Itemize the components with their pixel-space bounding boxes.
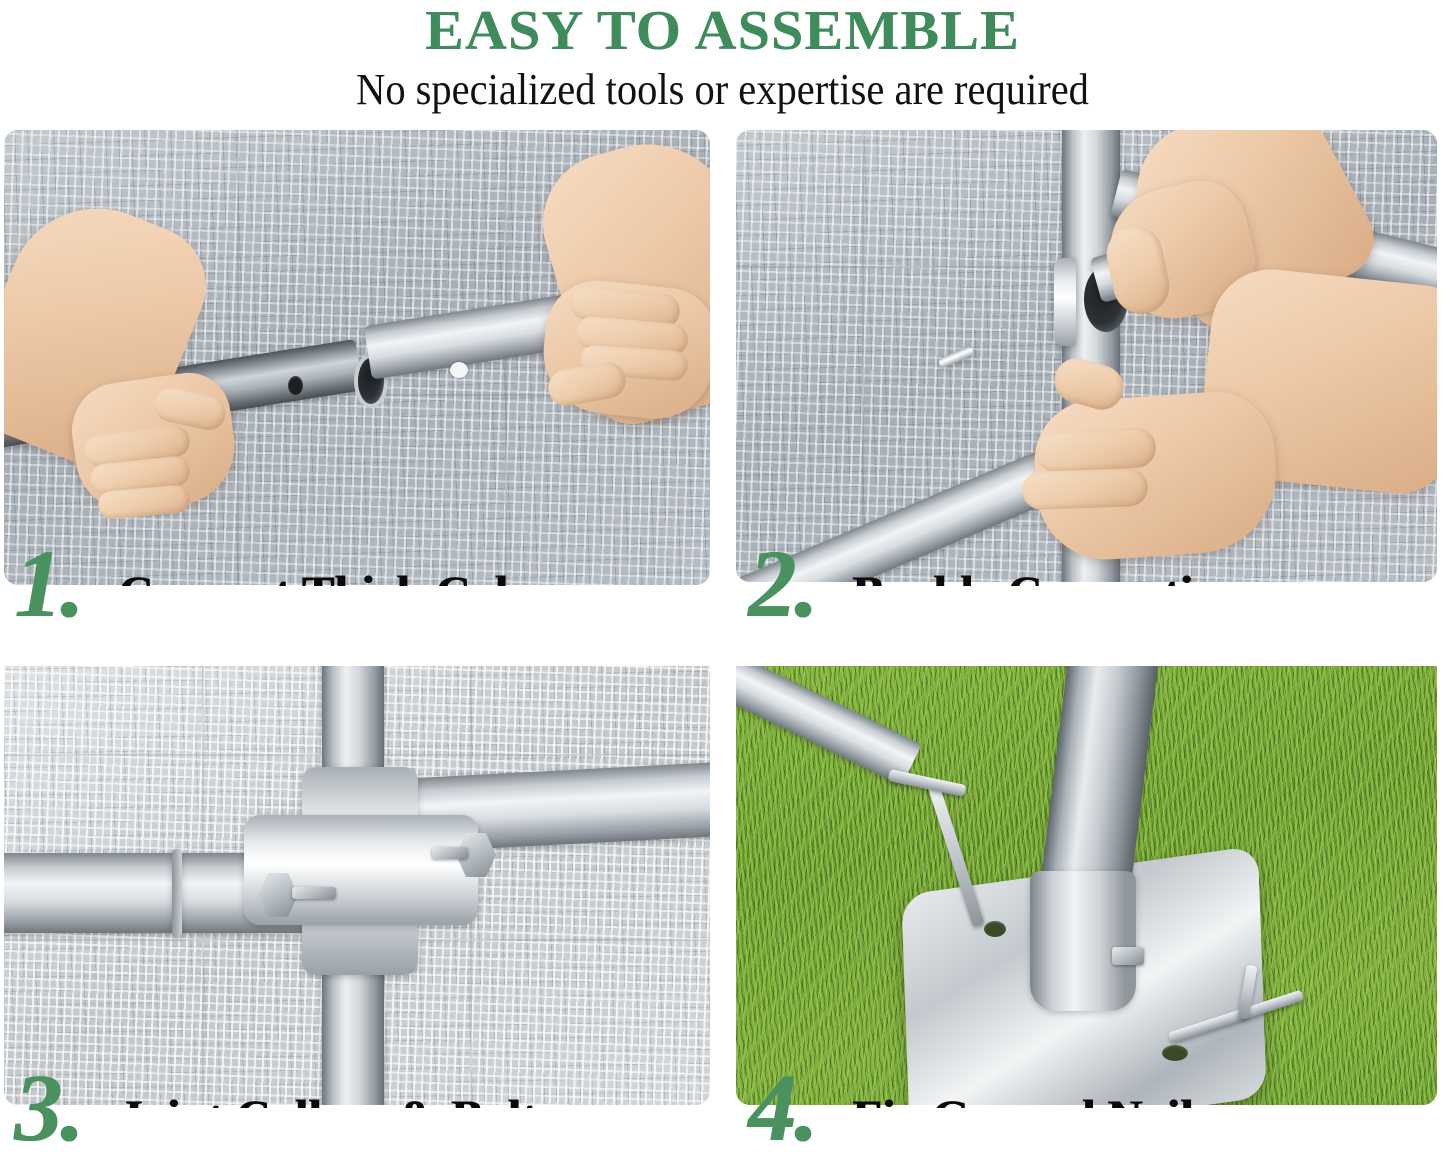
pipe-sleeve-ring	[172, 849, 182, 937]
tarp-seam	[862, 130, 864, 582]
bolt-shaft-left	[292, 887, 336, 899]
step-panel-3	[4, 655, 710, 1105]
finger	[1035, 427, 1157, 473]
caption-band-row-2	[0, 1108, 1445, 1160]
pole-base-collar	[1030, 871, 1136, 1011]
step-panel-4	[736, 655, 1437, 1105]
step-2-photo	[736, 130, 1437, 582]
buckle-clip	[1054, 258, 1076, 346]
plate-eyelet-right	[1162, 1045, 1188, 1061]
step-1-photo	[4, 130, 710, 585]
caption-band-row-1	[0, 586, 1445, 666]
bolt-shaft-right	[432, 847, 468, 859]
step-4-photo	[736, 655, 1437, 1105]
finger	[1021, 468, 1148, 510]
pipe-hole-far	[450, 362, 468, 378]
step-number-2: 2.	[748, 548, 816, 620]
pipe-hole	[288, 376, 303, 395]
step-panel-1	[4, 130, 710, 585]
assembly-infographic: EASY TO ASSEMBLE No specialized tools or…	[0, 0, 1445, 1160]
step-number-3: 3.	[14, 1072, 82, 1144]
step-panel-2	[736, 130, 1437, 582]
step-3-photo	[4, 655, 710, 1105]
base-bolt	[1112, 947, 1144, 965]
step-number-1: 1.	[14, 548, 82, 620]
step-number-4: 4.	[748, 1072, 816, 1144]
plate-eyelet-left	[984, 921, 1006, 937]
